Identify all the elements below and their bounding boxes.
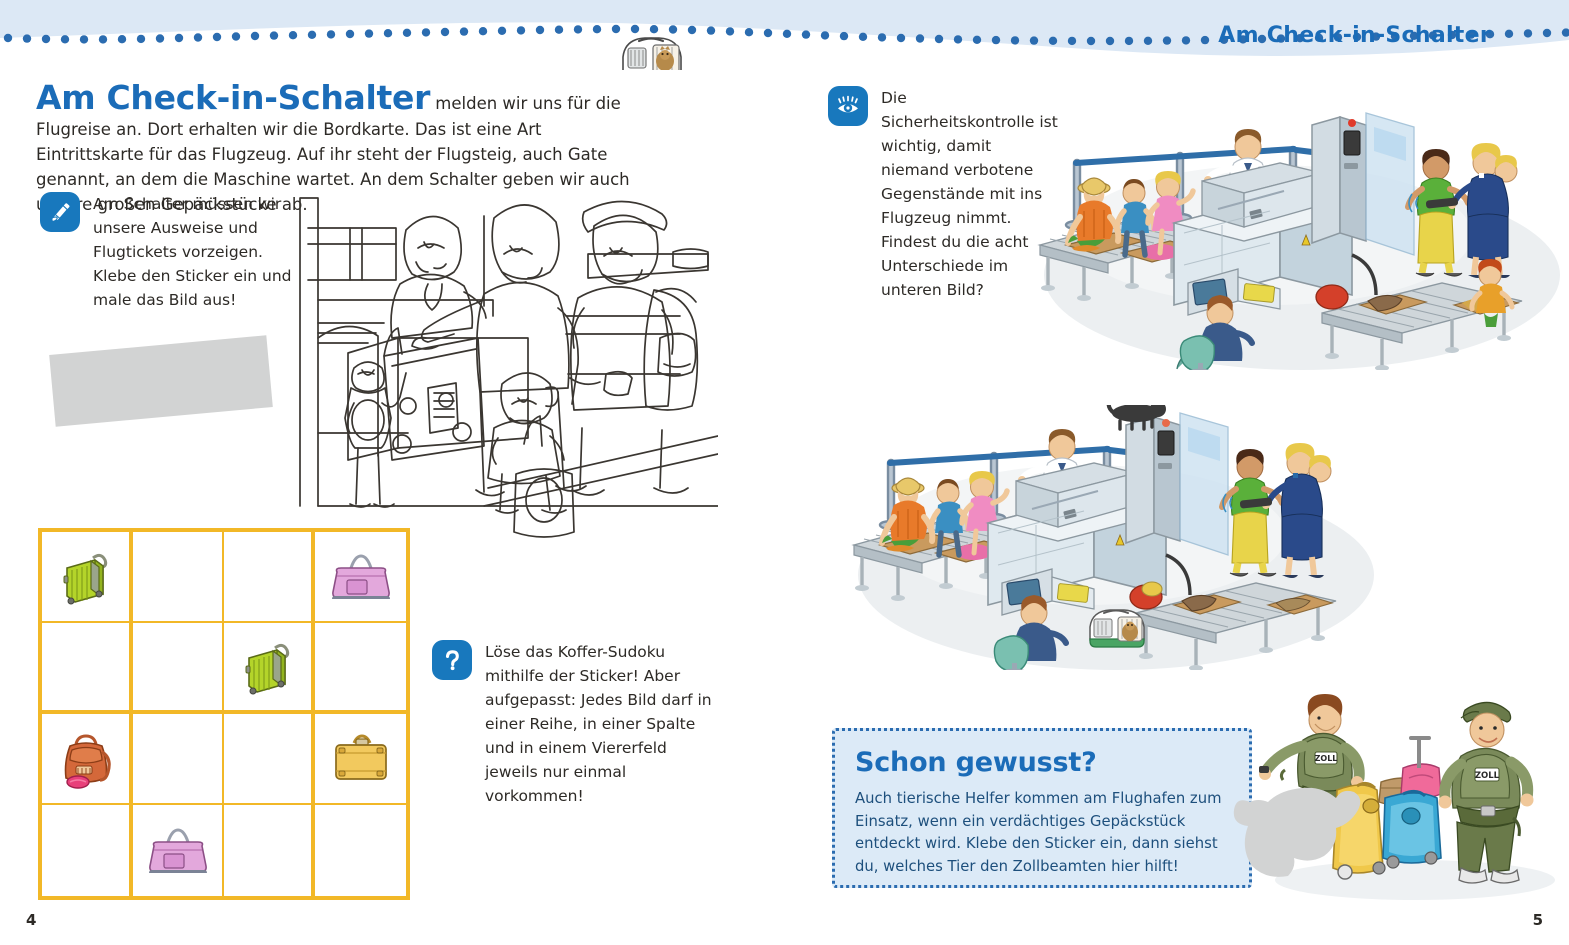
sudoku-cell-r1c1[interactable] <box>42 532 133 623</box>
sudoku-cell-r1c2[interactable] <box>133 532 224 623</box>
sudoku-cell-r2c4[interactable] <box>315 623 406 714</box>
note-sudoku-instruction: Löse das Koffer-Sudoku mithilfe der Stic… <box>432 640 722 808</box>
luggage-sudoku-grid[interactable] <box>38 528 410 900</box>
pencil-icon <box>40 192 80 232</box>
did-you-know-box: Schon gewusst? Auch tierische Helfer kom… <box>832 728 1252 888</box>
sticker-placeholder-dog[interactable] <box>1232 758 1374 878</box>
note-check-in-instruction: Am Schalter müssen wir unsere Ausweise u… <box>40 192 300 312</box>
sudoku-cell-r2c2[interactable] <box>133 623 224 714</box>
did-you-know-heading: Schon gewusst? <box>855 747 1229 778</box>
sudoku-cell-r2c1[interactable] <box>42 623 133 714</box>
sudoku-cell-r4c3[interactable] <box>224 805 315 896</box>
sudoku-cell-r3c3[interactable] <box>224 714 315 805</box>
did-you-know-text: Auch tierische Helfer kommen am Flughafe… <box>855 788 1229 878</box>
sudoku-cell-r2c3[interactable] <box>224 623 315 714</box>
svg-text:ZOLL: ZOLL <box>1475 771 1500 781</box>
running-header: Am Check-in-Schalter <box>1218 23 1491 48</box>
book-spread: Am Check-in-Schalter Am Check-in-Schalte… <box>0 0 1569 945</box>
page-number-right: 5 <box>1533 911 1543 929</box>
sudoku-cell-r3c1[interactable] <box>42 714 133 805</box>
coloring-picture-check-in <box>288 188 718 560</box>
sticker-placeholder-rectangle[interactable] <box>49 335 273 426</box>
sudoku-cell-r3c2[interactable] <box>133 714 224 805</box>
illustration-security-checkpoint-bottom <box>836 405 1376 670</box>
note-text: Am Schalter müssen wir unsere Ausweise u… <box>93 192 300 312</box>
sudoku-cell-r1c4[interactable] <box>315 532 406 623</box>
page-number-left: 4 <box>26 911 36 929</box>
eye-icon <box>828 86 868 126</box>
illustration-security-checkpoint-top <box>1022 105 1562 370</box>
sudoku-cell-r4c2[interactable] <box>133 805 224 896</box>
sudoku-cell-r3c4[interactable] <box>315 714 406 805</box>
note-text: Löse das Koffer-Sudoku mithilfe der Stic… <box>485 640 722 808</box>
sudoku-cell-r1c3[interactable] <box>224 532 315 623</box>
difference-pet-carrier <box>1090 610 1144 647</box>
sudoku-cell-r4c1[interactable] <box>42 805 133 896</box>
sudoku-cell-r4c4[interactable] <box>315 805 406 896</box>
page-title: Am Check-in-Schalter <box>36 78 430 117</box>
question-mark-icon <box>432 640 472 680</box>
